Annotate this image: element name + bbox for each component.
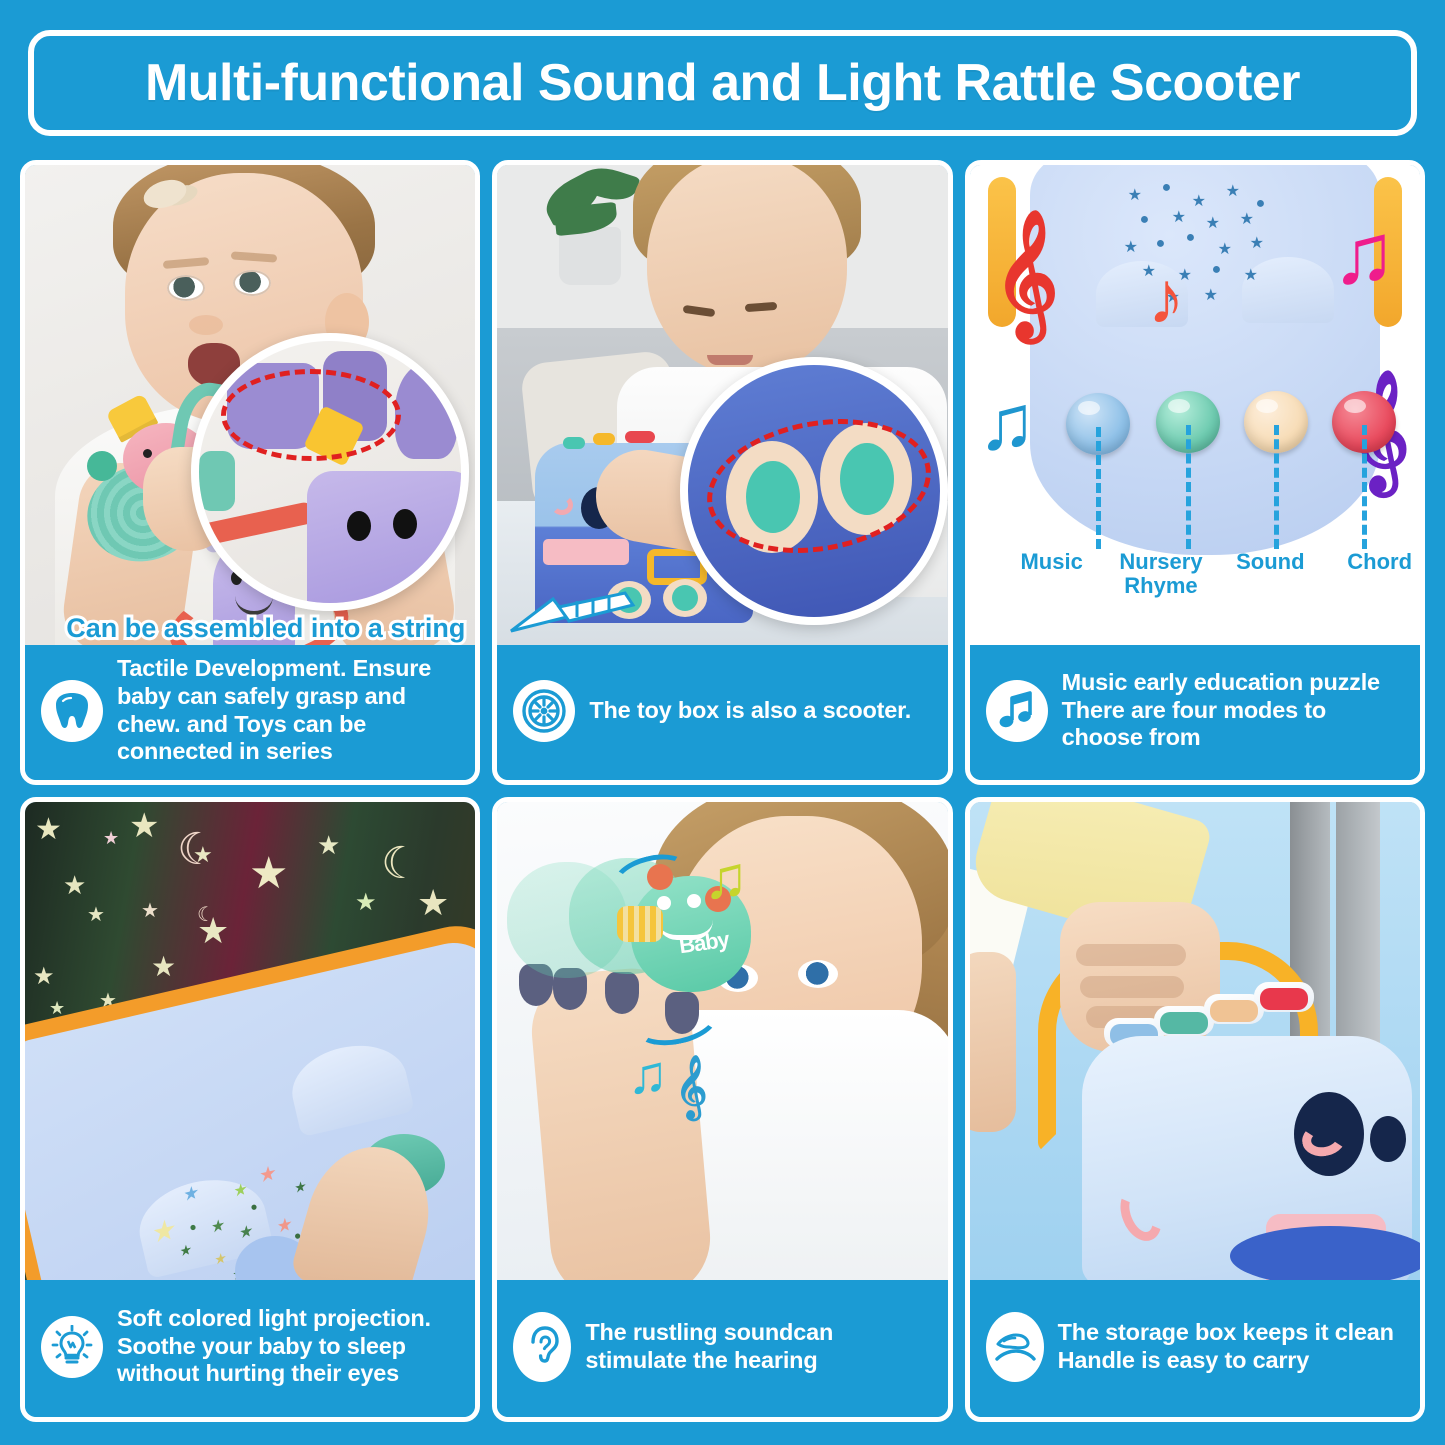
mode-label-music: Music [1006, 550, 1098, 599]
photo-music-panel: ★● ★★ ●● ★★ ★★ ●● ★★ ★★ ●★ ★★ 𝄞 ♪ ♫ ♫ [970, 165, 1420, 645]
callout-assembled-string: Can be assembled into a string [66, 613, 465, 643]
beamed-notes-cyan-icon: ♫ [627, 1048, 668, 1102]
mode-label-nursery-rhyme: Nursery Rhyme [1115, 550, 1207, 599]
lightbulb-icon [41, 1316, 103, 1378]
beamed-notes-yellow-icon: ♫ [703, 848, 748, 908]
caption-text: Soft colored light projection. Soothe yo… [117, 1305, 461, 1388]
hand-wipe-icon [986, 1312, 1044, 1382]
caption-toy-box-scooter: The toy box is also a scooter. [497, 645, 947, 780]
title-banner: Multi-functional Sound and Light Rattle … [28, 30, 1417, 136]
page-title: Multi-functional Sound and Light Rattle … [145, 57, 1300, 109]
caption-text: The rustling soundcan stimulate the hear… [585, 1319, 933, 1374]
feature-card-music-education: ★● ★★ ●● ★★ ★★ ●● ★★ ★★ ●★ ★★ 𝄞 ♪ ♫ ♫ [965, 160, 1425, 785]
motion-arrow-icon [507, 589, 637, 635]
feature-card-light-projection: ★ ★ ★ ★ ★ ☾ ★ ★ ☾ ★ ★ ☾ ★ ★ ★ ★ ★ [20, 797, 480, 1422]
star-decals: ★● ★★ ●● ★★ ★★ ●● ★★ ★★ ●★ ★★ [1122, 179, 1282, 309]
feature-card-rustling-sound: Baby ♫ ♫ 𝄞 The rustling soundcan stimula… [492, 797, 952, 1422]
photo-boy-scooter-box [497, 165, 947, 645]
photo-star-projection: ★ ★ ★ ★ ★ ☾ ★ ★ ☾ ★ ★ ☾ ★ ★ ★ ★ ★ [25, 802, 475, 1280]
music-note-icon [986, 680, 1048, 742]
mode-label-chord: Chord [1334, 550, 1420, 599]
tooth-icon [41, 680, 103, 742]
feature-card-toy-box-scooter: The toy box is also a scooter. [492, 160, 952, 785]
photo-toddler-rattle: Baby ♫ ♫ 𝄞 [497, 802, 947, 1280]
ear-icon [513, 1312, 571, 1382]
mode-label-sound: Sound [1224, 550, 1316, 599]
caption-text: The toy box is also a scooter. [589, 697, 911, 725]
feature-card-tactile-development: Can be assembled into a string Tactile D… [20, 160, 480, 785]
treble-clef-cyan-icon: 𝄞 [675, 1060, 707, 1114]
top-button-red[interactable] [1260, 988, 1308, 1010]
inset-zoom-wheels [680, 357, 948, 625]
beamed-notes-blue-icon: ♫ [978, 383, 1037, 461]
caption-storage-handle: The storage box keeps it clean Handle is… [970, 1280, 1420, 1417]
top-button-green[interactable] [1160, 1012, 1208, 1034]
feature-card-storage-handle: The storage box keeps it clean Handle is… [965, 797, 1425, 1422]
top-button-peach[interactable] [1210, 1000, 1258, 1022]
caption-light-projection: Soft colored light projection. Soothe yo… [25, 1280, 475, 1417]
feature-grid: Can be assembled into a string Tactile D… [20, 160, 1425, 1422]
mode-labels: Music Nursery Rhyme Sound Chord [1006, 550, 1420, 599]
dashed-highlight-ellipse [221, 369, 401, 461]
caption-rustling-sound: The rustling soundcan stimulate the hear… [497, 1280, 947, 1417]
wheel-icon [513, 680, 575, 742]
photo-hand-carrying-box [970, 802, 1420, 1280]
caption-tactile-development: Tactile Development. Ensure baby can saf… [25, 645, 475, 780]
dashed-highlight-ellipse [696, 402, 941, 569]
inset-zoom-connector [191, 333, 469, 611]
caption-music-education: Music early education puzzle There are f… [970, 645, 1420, 780]
caption-text: The storage box keeps it clean Handle is… [1058, 1319, 1406, 1374]
caption-text: Tactile Development. Ensure baby can saf… [117, 655, 461, 766]
eighth-note-red-icon: ♪ [1148, 261, 1185, 335]
caption-text: Music early education puzzle There are f… [1062, 669, 1406, 752]
treble-clef-red-icon: 𝄞 [994, 219, 1059, 329]
infographic-page: Multi-functional Sound and Light Rattle … [0, 0, 1445, 1445]
beamed-notes-pink-icon: ♫ [1332, 211, 1397, 297]
photo-baby-teether: Can be assembled into a string [25, 165, 475, 645]
